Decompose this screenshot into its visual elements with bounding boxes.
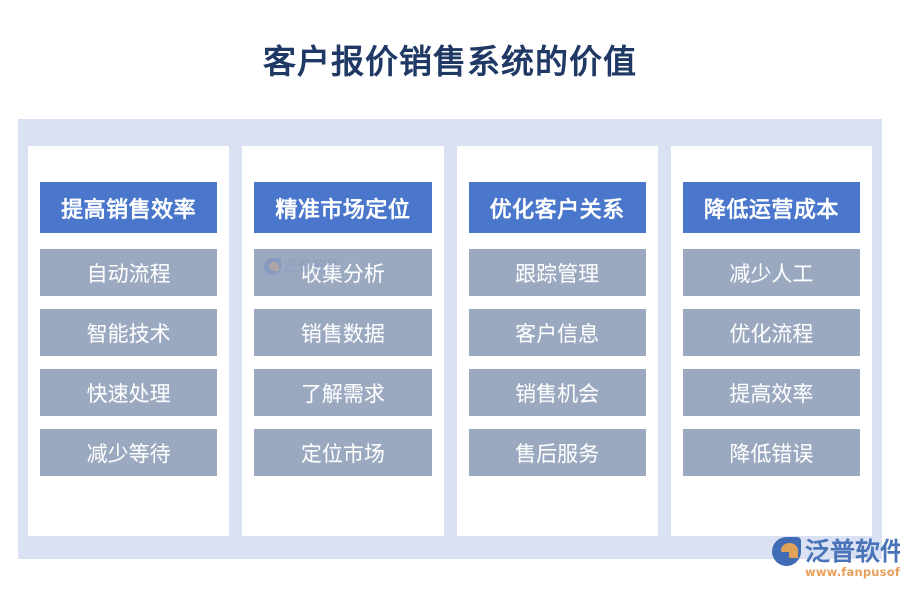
page-title: 客户报价销售系统的价值 — [0, 42, 900, 82]
list-item: 智能技术 — [40, 309, 217, 356]
list-item: 优化流程 — [683, 309, 860, 356]
list-item: 减少等待 — [40, 429, 217, 476]
brand-name: 泛普软件 — [805, 538, 900, 565]
value-column-2: 精准市场定位 收集分析 销售数据 了解需求 定位市场 — [242, 146, 443, 536]
list-item: 客户信息 — [469, 309, 646, 356]
list-item: 快速处理 — [40, 369, 217, 416]
column-4-items: 减少人工 优化流程 提高效率 降低错误 — [683, 249, 860, 476]
value-column-3: 优化客户关系 跟踪管理 客户信息 销售机会 售后服务 — [457, 146, 658, 536]
column-2-items: 收集分析 销售数据 了解需求 定位市场 — [254, 249, 431, 476]
list-item: 跟踪管理 — [469, 249, 646, 296]
value-column-4: 降低运营成本 减少人工 优化流程 提高效率 降低错误 — [671, 146, 872, 536]
column-1-items: 自动流程 智能技术 快速处理 减少等待 — [40, 249, 217, 476]
list-item: 减少人工 — [683, 249, 860, 296]
value-column-1: 提高销售效率 自动流程 智能技术 快速处理 减少等待 — [28, 146, 229, 536]
brand-logo-row: 泛普软件 — [772, 537, 894, 566]
list-item: 提高效率 — [683, 369, 860, 416]
value-panel: 提高销售效率 自动流程 智能技术 快速处理 减少等待 精准市场定位 收集分析 销… — [18, 119, 882, 559]
list-item: 定位市场 — [254, 429, 431, 476]
list-item: 降低错误 — [683, 429, 860, 476]
list-item: 销售机会 — [469, 369, 646, 416]
column-4-header: 降低运营成本 — [683, 182, 860, 233]
brand-logo[interactable]: 泛普软件 www.fanpusoft.com — [772, 537, 894, 587]
list-item: 收集分析 — [254, 249, 431, 296]
column-2-header: 精准市场定位 — [254, 182, 431, 233]
column-3-items: 跟踪管理 客户信息 销售机会 售后服务 — [469, 249, 646, 476]
column-1-header: 提高销售效率 — [40, 182, 217, 233]
brand-url: www.fanpusoft.com — [805, 565, 894, 579]
list-item: 自动流程 — [40, 249, 217, 296]
value-columns: 提高销售效率 自动流程 智能技术 快速处理 减少等待 精准市场定位 收集分析 销… — [28, 146, 872, 536]
fanpu-logo-icon — [772, 537, 801, 566]
list-item: 了解需求 — [254, 369, 431, 416]
list-item: 售后服务 — [469, 429, 646, 476]
list-item: 销售数据 — [254, 309, 431, 356]
column-3-header: 优化客户关系 — [469, 182, 646, 233]
